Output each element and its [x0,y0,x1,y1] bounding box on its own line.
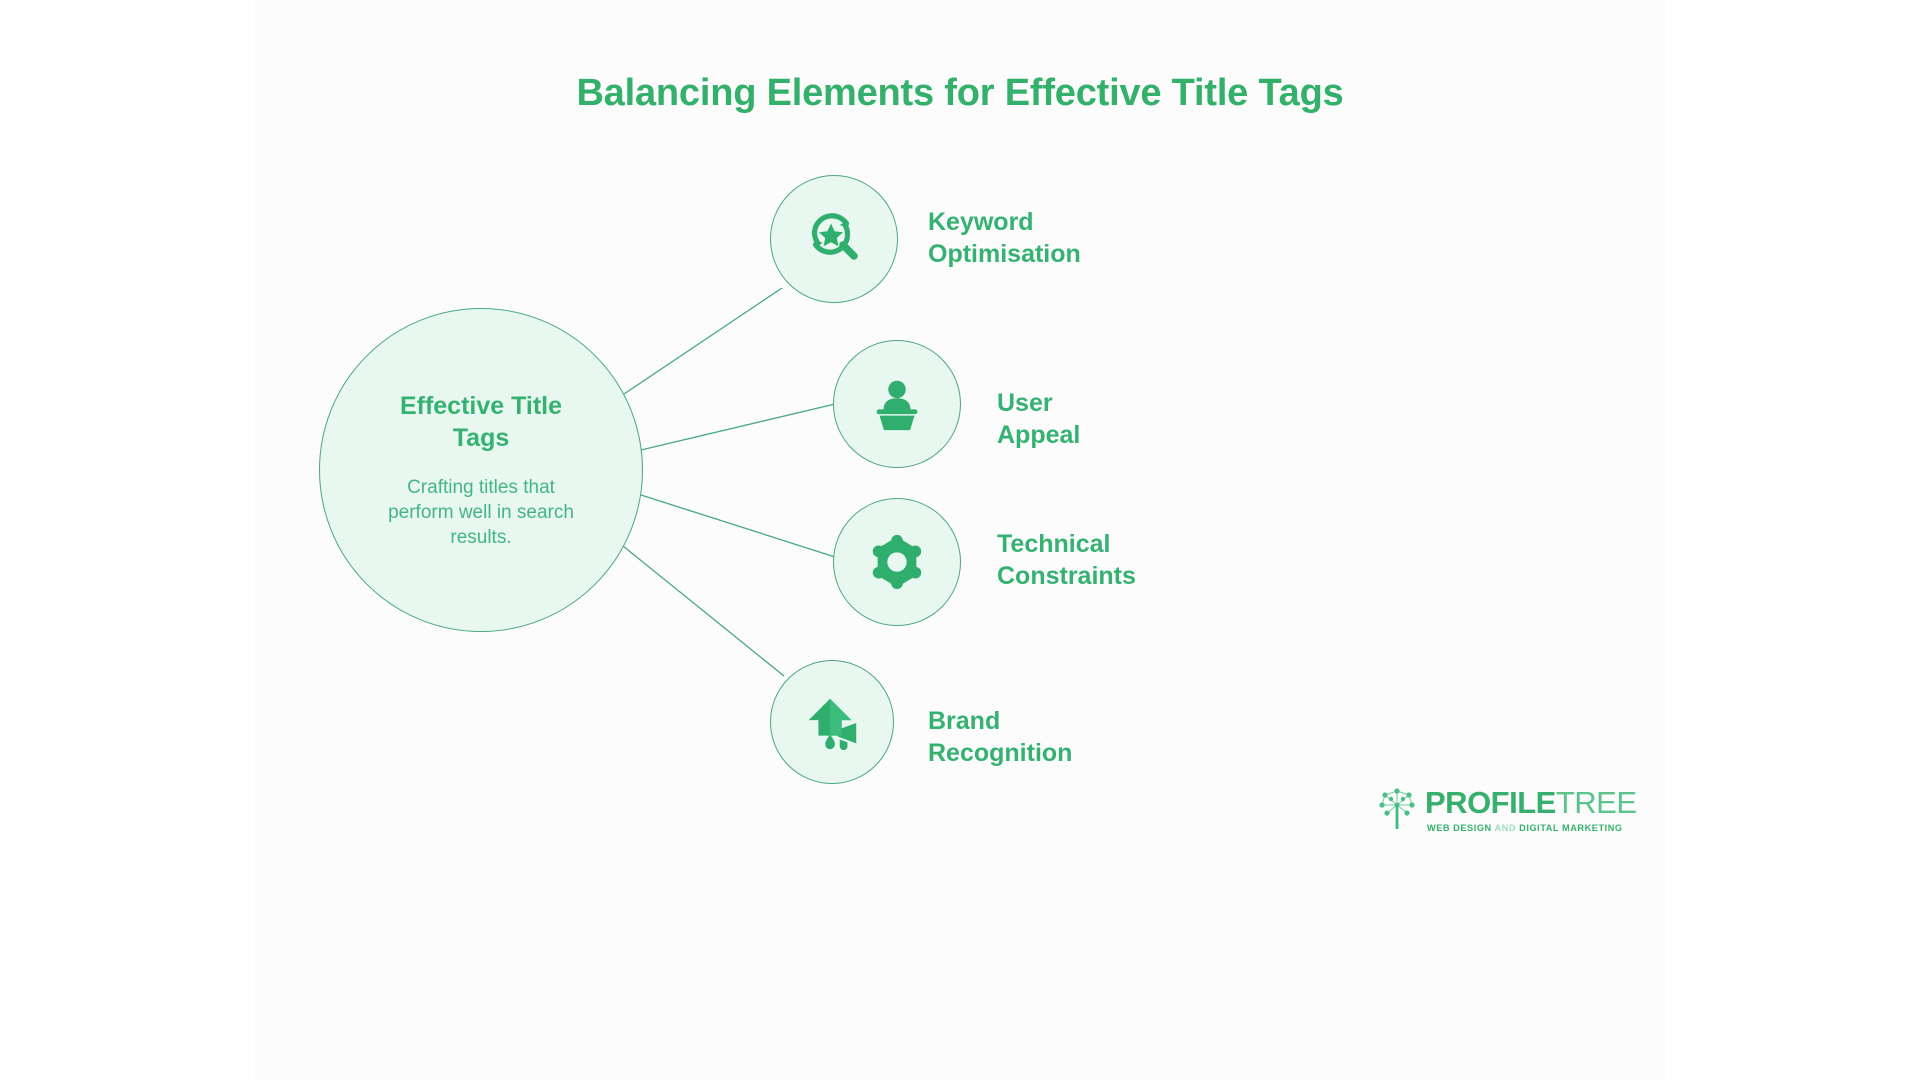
logo-name-bold: PROFILE [1425,785,1556,820]
node-icon-bubble[interactable] [770,660,894,784]
hub-node[interactable]: Effective Title Tags Crafting titles tha… [319,308,643,632]
megaphone-arrow-icon [801,691,863,753]
connector-line-1 [641,404,835,450]
logo-tagline-part3: DIGITAL MARKETING [1519,823,1622,833]
node-label: Keyword Optimisation [928,206,1178,270]
hub-title: Effective Title Tags [371,390,591,455]
node-label: Technical Constraints [997,528,1247,592]
node-label: User Appeal [997,387,1080,451]
logo-tagline-part1: WEB DESIGN [1427,823,1492,833]
connector-line-0 [624,288,782,394]
node-icon-bubble[interactable] [770,175,898,303]
logo-name-light: TREE [1556,785,1637,820]
page-title: Balancing Elements for Effective Title T… [255,72,1665,115]
logo-tagline: WEB DESIGN AND DIGITAL MARKETING [1427,823,1623,833]
connector-line-3 [623,546,784,676]
logo-wordmark: PROFILETREE [1425,787,1637,818]
connector-line-2 [641,495,835,557]
hub-subtitle: Crafting titles that perform well in sea… [376,475,586,551]
tree-network-icon [1373,785,1421,833]
node-icon-bubble[interactable] [833,498,961,626]
node-label: Brand Recognition [928,705,1072,769]
person-podium-icon [866,373,928,435]
logo-tagline-part2: AND [1494,823,1516,833]
infographic-canvas: Balancing Elements for Effective Title T… [255,0,1665,1080]
gear-icon [866,531,928,593]
magnifier-star-icon [802,207,866,271]
profiletree-logo[interactable]: PROFILETREE WEB DESIGN AND DIGITAL MARKE… [1373,781,1573,843]
node-icon-bubble[interactable] [833,340,961,468]
